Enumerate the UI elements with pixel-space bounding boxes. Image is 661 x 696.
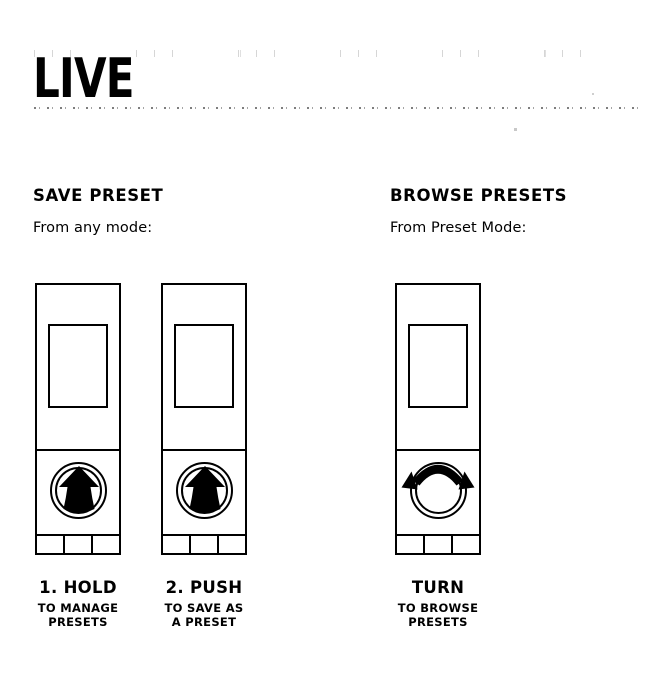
device-knob-area [397, 449, 479, 528]
device-button-cell [191, 535, 219, 554]
push-arrow-icon [57, 465, 101, 517]
device-button-cell [93, 535, 119, 554]
device-screen [48, 324, 108, 408]
rotate-arc-arrow-icon [395, 447, 481, 491]
device-illustration-turn [395, 283, 481, 555]
section-subheading-save-preset: From any mode: [33, 220, 353, 236]
caption-turn-subtitle-line1: TO BROWSE [398, 601, 479, 615]
caption-turn: TURN TO BROWSE PRESETS [376, 578, 500, 629]
device-button-cell [163, 535, 191, 554]
device-button-cell [397, 535, 425, 554]
page-title: LIVE [33, 52, 134, 106]
push-arrow-icon [183, 465, 227, 517]
device-button-cell [65, 535, 93, 554]
device-button-cell [453, 535, 479, 554]
section-heading-browse-presets: BROWSE PRESETS [390, 186, 650, 205]
device-button-row [163, 535, 245, 554]
manual-page: LIVE SAVE PRESET From any mode: BROWSE P… [0, 0, 661, 696]
caption-turn-title: TURN [376, 578, 500, 597]
caption-push: 2. PUSH TO SAVE AS A PRESET [142, 578, 266, 629]
device-illustration-push [161, 283, 247, 555]
caption-hold-subtitle-line1: TO MANAGE [38, 601, 119, 615]
device-knob-area [163, 449, 245, 528]
device-knob-area [37, 449, 119, 528]
caption-push-subtitle-line2: A PRESET [172, 615, 236, 629]
device-screen [174, 324, 234, 408]
device-button-cell [37, 535, 65, 554]
caption-turn-subtitle: TO BROWSE PRESETS [376, 602, 500, 629]
caption-hold-subtitle: TO MANAGE PRESETS [16, 602, 140, 629]
scan-artifact-dot [592, 93, 594, 95]
section-subheading-browse-presets: From Preset Mode: [390, 220, 650, 236]
caption-hold-subtitle-line2: PRESETS [48, 615, 108, 629]
caption-push-title: 2. PUSH [142, 578, 266, 597]
caption-hold: 1. HOLD TO MANAGE PRESETS [16, 578, 140, 629]
section-save-preset: SAVE PRESET From any mode: [33, 186, 353, 236]
caption-turn-subtitle-line2: PRESETS [408, 615, 468, 629]
caption-push-subtitle: TO SAVE AS A PRESET [142, 602, 266, 629]
device-button-row [397, 535, 479, 554]
section-browse-presets: BROWSE PRESETS From Preset Mode: [390, 186, 650, 236]
section-heading-save-preset: SAVE PRESET [33, 186, 353, 205]
device-button-cell [425, 535, 453, 554]
scan-artifact-dot [514, 128, 517, 131]
device-illustration-hold [35, 283, 121, 555]
device-button-cell [219, 535, 245, 554]
device-screen [408, 324, 468, 408]
caption-push-subtitle-line1: TO SAVE AS [165, 601, 244, 615]
device-button-row [37, 535, 119, 554]
caption-hold-title: 1. HOLD [16, 578, 140, 597]
